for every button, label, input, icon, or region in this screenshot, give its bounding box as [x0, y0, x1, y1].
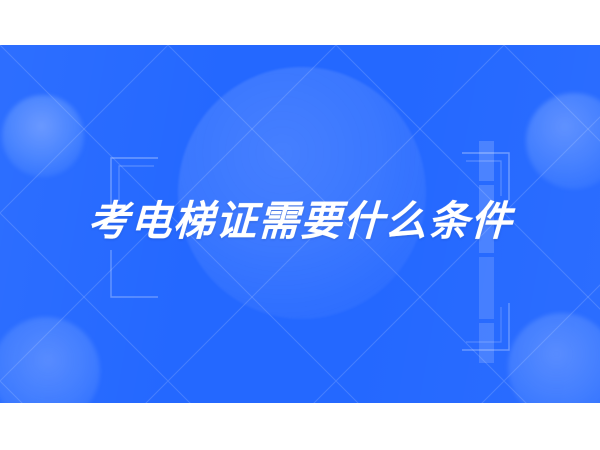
- hero-banner: 考电梯证需要什么条件: [0, 45, 600, 403]
- title-container: 考电梯证需要什么条件: [0, 45, 600, 403]
- banner-canvas: 考电梯证需要什么条件: [0, 0, 600, 450]
- banner-title: 考电梯证需要什么条件: [87, 201, 513, 242]
